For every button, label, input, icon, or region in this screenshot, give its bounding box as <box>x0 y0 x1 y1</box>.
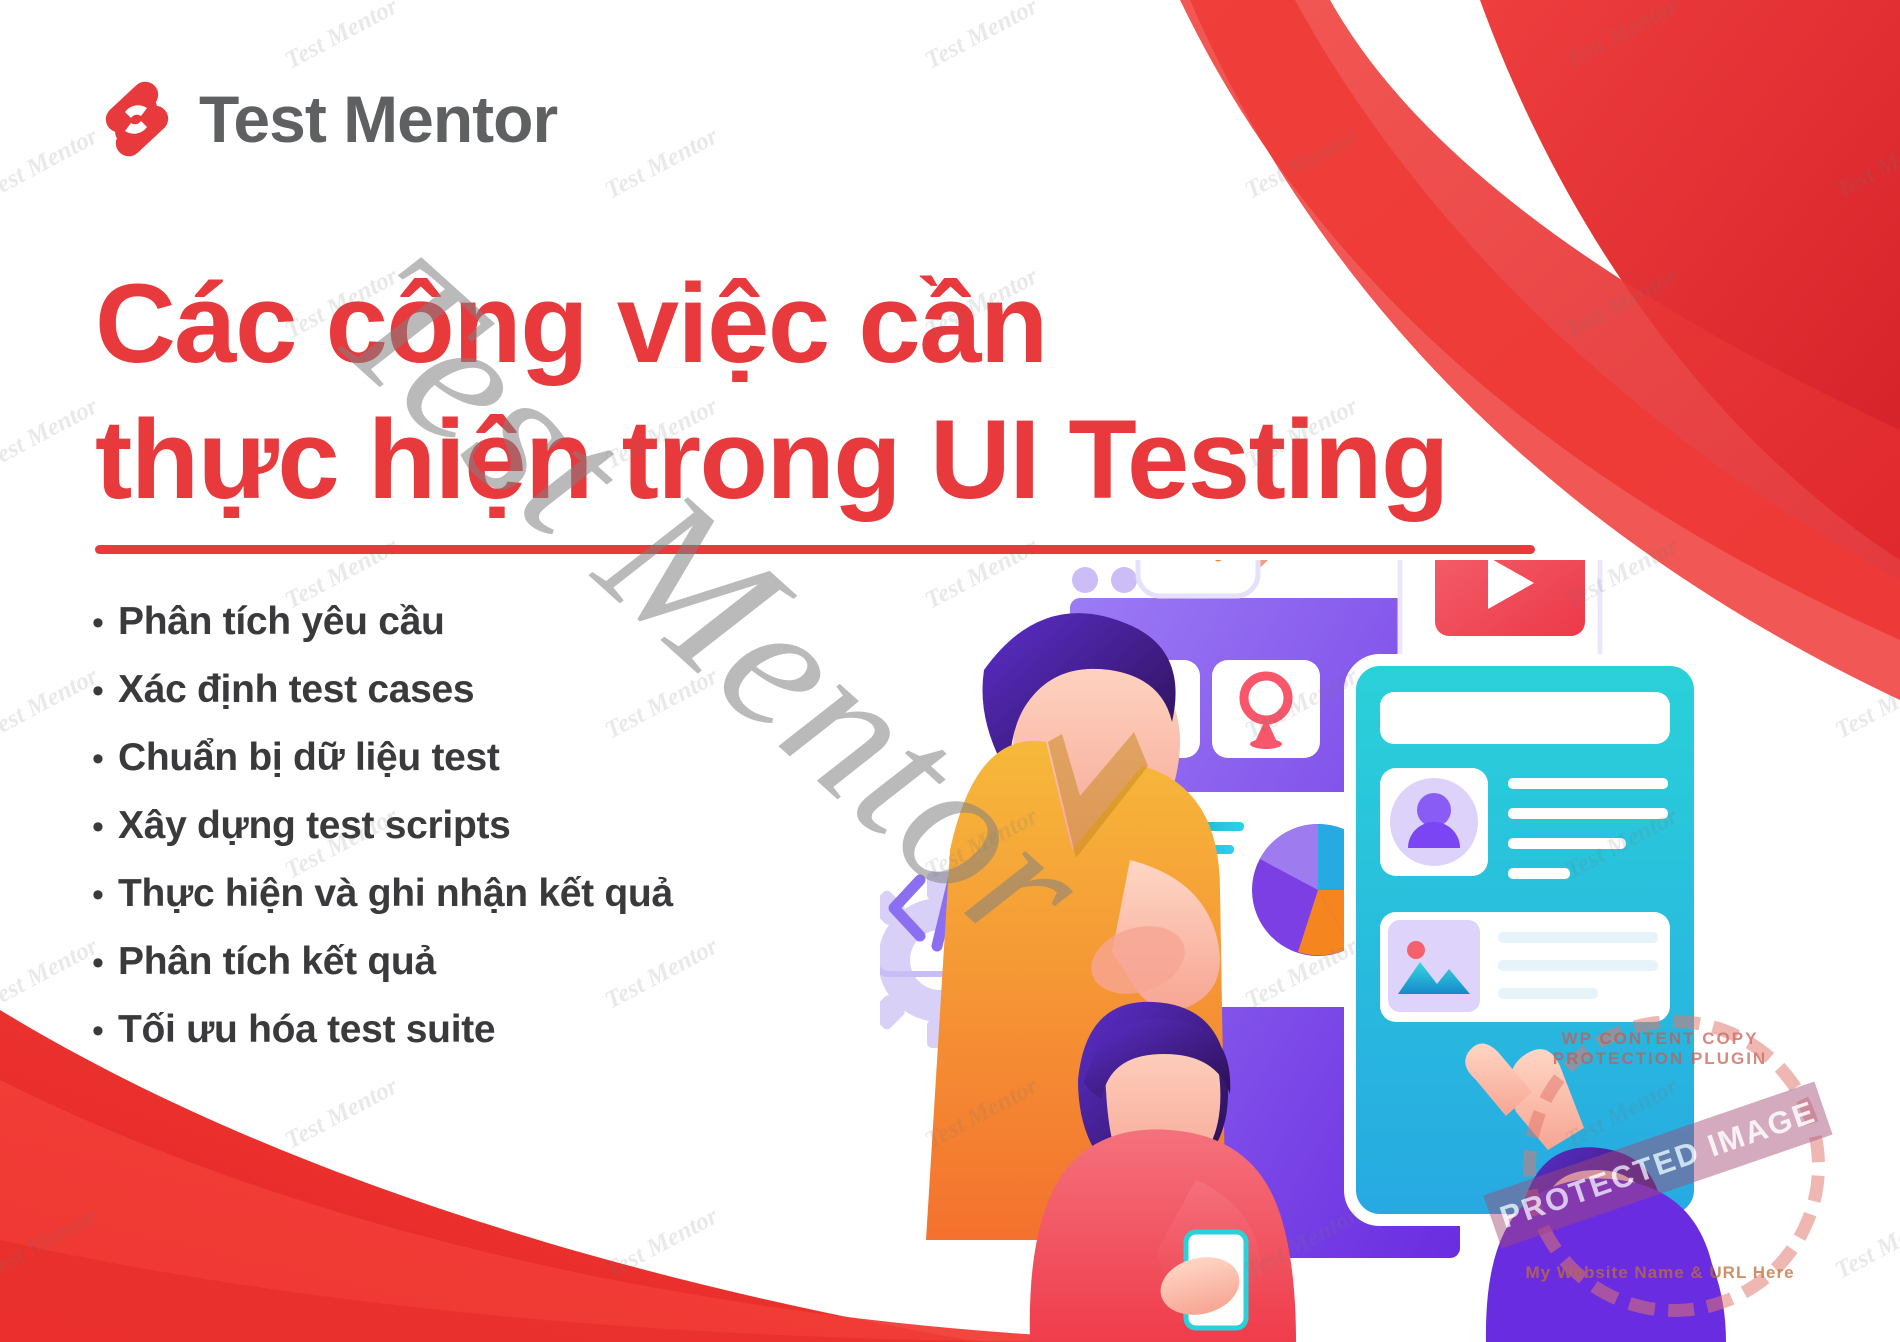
watermark-tile: Test Mentor <box>1561 263 1683 346</box>
title-divider <box>95 545 1535 554</box>
watermark-tile: Test Mentor <box>0 123 103 206</box>
ui-testing-illustration <box>880 560 1900 1342</box>
watermark-tile: Test Mentor <box>1241 123 1363 206</box>
list-item: • Tối ưu hóa test suite <box>92 1008 942 1076</box>
list-item: • Thực hiện và ghi nhận kết quả <box>92 872 942 940</box>
watermark-tile: Test Mentor <box>1831 123 1900 206</box>
list-item: • Xây dựng test scripts <box>92 804 942 872</box>
poster-canvas: Test Mentor Các công việc cần thực hiện … <box>0 0 1900 1342</box>
page-title: Các công việc cần thực hiện trong UI Tes… <box>95 268 1555 516</box>
task-list: • Phân tích yêu cầu • Xác định test case… <box>92 600 942 1076</box>
brand-logo: Test Mentor <box>95 78 557 160</box>
watermark-tile: Test Mentor <box>0 1203 103 1286</box>
watermark-tile: Test Mentor <box>281 1073 403 1156</box>
list-item-label: Tối ưu hóa test suite <box>118 1008 495 1052</box>
test-mentor-s-mark-icon <box>95 78 177 160</box>
list-item: • Chuẩn bị dữ liệu test <box>92 736 942 804</box>
speaker-card <box>1138 560 1258 596</box>
list-item-label: Chuẩn bị dữ liệu test <box>118 736 500 780</box>
list-item: • Xác định test cases <box>92 668 942 736</box>
watermark-tile: Test Mentor <box>601 123 723 206</box>
bullet-marker-icon: • <box>92 1014 104 1048</box>
list-item-label: Xây dựng test scripts <box>118 804 511 848</box>
brand-name: Test Mentor <box>199 81 557 157</box>
watermark-tile: Test Mentor <box>601 1203 723 1286</box>
title-line-2: thực hiện trong UI Testing <box>95 404 1555 516</box>
watermark-tile: Test Mentor <box>1561 0 1683 75</box>
list-item-label: Phân tích yêu cầu <box>118 600 445 644</box>
list-item: • Phân tích kết quả <box>92 940 942 1008</box>
bullet-marker-icon: • <box>92 946 104 980</box>
user-avatar-icon <box>1390 778 1478 866</box>
watermark-tile: Test Mentor <box>0 663 103 746</box>
teal-profile-panel <box>1350 660 1700 1220</box>
image-placeholder-icon <box>1388 920 1480 1012</box>
list-item: • Phân tích yêu cầu <box>92 600 942 668</box>
list-item-label: Thực hiện và ghi nhận kết quả <box>118 872 673 916</box>
watermark-tile: Test Mentor <box>281 0 403 75</box>
bullet-marker-icon: • <box>92 878 104 912</box>
watermark-tile: Test Mentor <box>921 0 1043 75</box>
bullet-marker-icon: • <box>92 606 104 640</box>
bullet-marker-icon: • <box>92 674 104 708</box>
title-line-1: Các công việc cần <box>95 268 1555 380</box>
watermark-tile: Test Mentor <box>0 933 103 1016</box>
watermark-tile: Test Mentor <box>0 393 103 476</box>
bullet-marker-icon: • <box>92 742 104 776</box>
bullet-marker-icon: • <box>92 810 104 844</box>
list-item-label: Phân tích kết quả <box>118 940 436 984</box>
list-item-label: Xác định test cases <box>118 668 474 712</box>
